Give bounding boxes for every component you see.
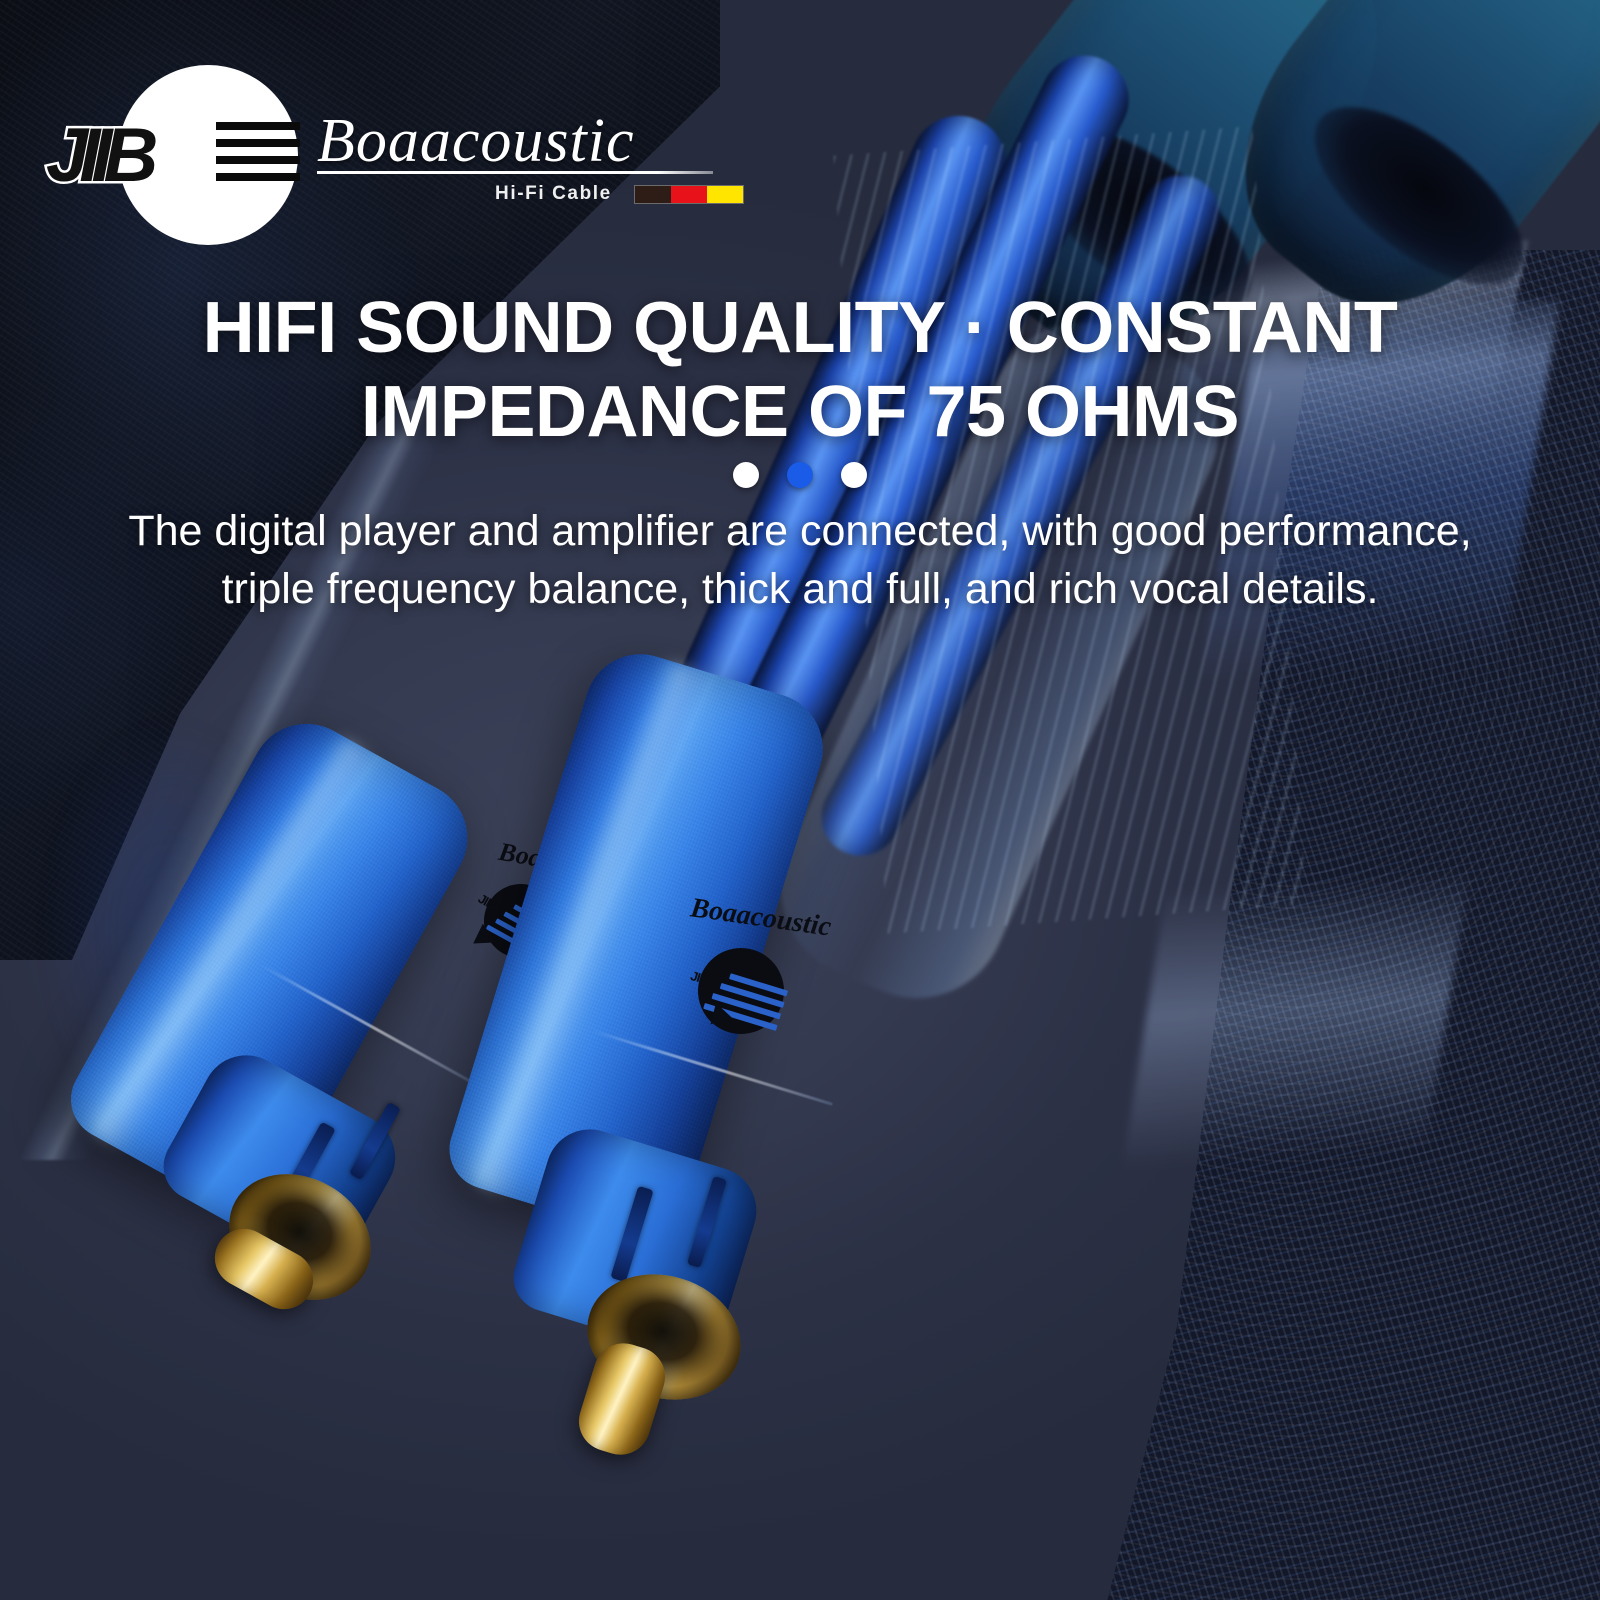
brand-logo-block: JIIB Boaacoustic Hi-Fi Cable — [46, 62, 744, 247]
logo-jib-letters: JIIB — [46, 114, 236, 198]
separator-dots — [0, 462, 1600, 488]
brand-script-name: Boaacoustic — [317, 110, 744, 173]
dot-1 — [733, 462, 759, 488]
jib-circle-logo-icon: JIIB — [46, 62, 271, 247]
brand-tagline: Hi-Fi Cable — [495, 183, 612, 205]
body-description: The digital player and amplifier are con… — [120, 502, 1480, 618]
dot-2 — [787, 462, 813, 488]
headline-line-1: HIFI SOUND QUALITY · CONSTANT — [70, 286, 1530, 370]
product-banner: JIIB Boaacoustic JIIB Boaacoustic — [0, 0, 1600, 1600]
page-title: HIFI SOUND QUALITY · CONSTANT IMPEDANCE … — [0, 286, 1600, 454]
headline-line-2: IMPEDANCE OF 75 OHMS — [70, 370, 1530, 454]
dot-3 — [841, 462, 867, 488]
brand-wordmark: Boaacoustic Hi-Fi Cable — [317, 104, 744, 205]
brand-tagline-row: Hi-Fi Cable — [317, 183, 744, 205]
german-flag-icon — [634, 185, 744, 204]
